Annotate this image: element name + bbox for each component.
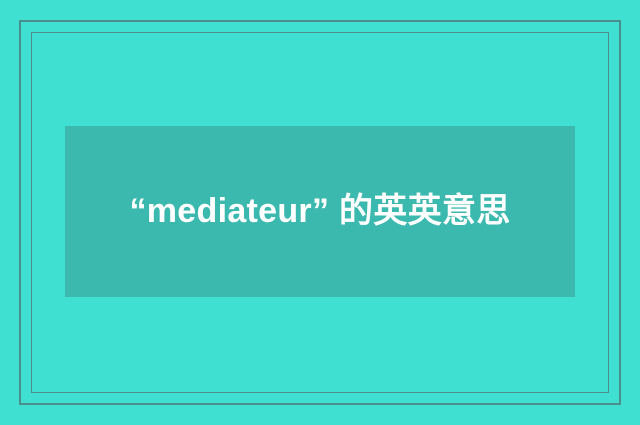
page-title: “mediateur” 的英英意思 bbox=[99, 184, 541, 239]
banner-card: “mediateur” 的英英意思 bbox=[0, 0, 640, 425]
title-panel: “mediateur” 的英英意思 bbox=[65, 126, 575, 297]
